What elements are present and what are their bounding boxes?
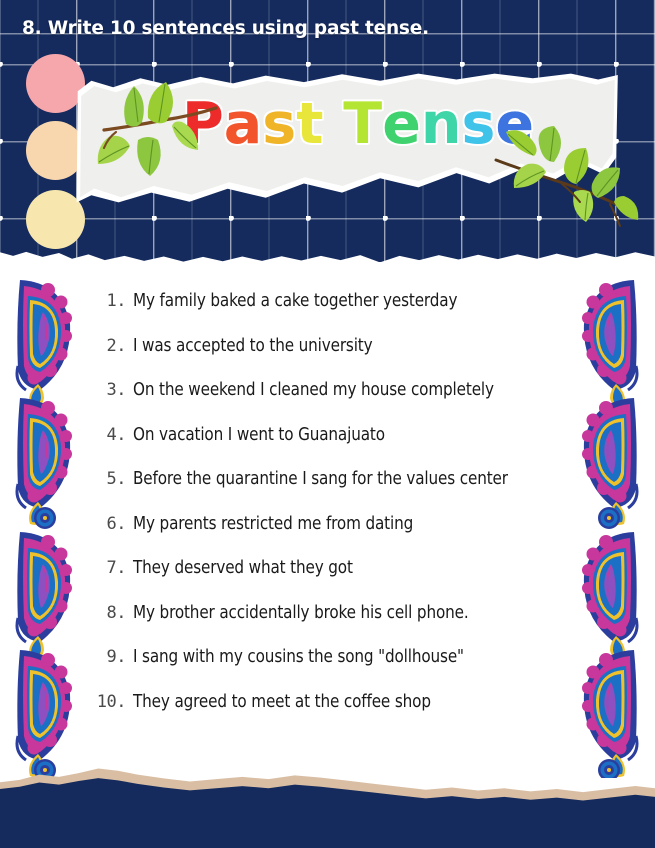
list-item: 3.On the weekend I cleaned my house comp… (88, 379, 558, 400)
list-item-text: My family baked a cake together yesterda… (133, 290, 457, 311)
instruction-heading: 8. Write 10 sentences using past tense. (22, 18, 429, 39)
list-item: 8.My brother accidentally broke his cell… (88, 602, 558, 623)
banner-letter-9: e (495, 96, 534, 153)
cream-circle (26, 190, 85, 249)
list-item: 4.On vacation I went to Guanajuato (88, 424, 558, 445)
list-item-number: 1. (88, 291, 126, 311)
banner-letter-0: P (182, 96, 224, 153)
pink-circle (26, 54, 85, 113)
list-item-text: On the weekend I cleaned my house comple… (133, 379, 494, 400)
list-item: 7.They deserved what they got (88, 557, 558, 578)
list-item-text: On vacation I went to Guanajuato (133, 424, 385, 445)
list-item: 10.They agreed to meet at the coffee sho… (88, 691, 558, 712)
list-item-number: 5. (88, 469, 126, 489)
title-banner: Past Tense (78, 76, 618, 201)
banner-letter-6: e (382, 96, 421, 153)
banner-letter-8: s (461, 96, 495, 153)
list-item-number: 9. (88, 647, 126, 667)
list-item: 5.Before the quarantine I sang for the v… (88, 468, 558, 489)
list-item-number: 6. (88, 514, 126, 534)
worksheet-page: 8. Write 10 sentences using past tense. … (0, 0, 655, 848)
banner-letter-3: t (296, 96, 323, 153)
banner-title-text: Past Tense (182, 96, 534, 153)
banner-letter-7: n (421, 96, 462, 153)
banner-letter-1: a (224, 96, 262, 153)
list-item-number: 10. (88, 692, 126, 712)
list-item: 1.My family baked a cake together yester… (88, 290, 558, 311)
list-item: 2.I was accepted to the university (88, 335, 558, 356)
list-item: 6.My parents restricted me from dating (88, 513, 558, 534)
list-item-number: 7. (88, 558, 126, 578)
banner-letter-2: s (262, 96, 296, 153)
list-item-text: I was accepted to the university (133, 335, 373, 356)
banner-letter-4 (323, 96, 343, 153)
list-item-number: 3. (88, 380, 126, 400)
list-item-text: My brother accidentally broke his cell p… (133, 602, 469, 623)
list-item-text: Before the quarantine I sang for the val… (133, 468, 508, 489)
list-item-number: 8. (88, 603, 126, 623)
list-item-text: They deserved what they got (133, 557, 353, 578)
list-item-text: I sang with my cousins the song "dollhou… (133, 646, 464, 667)
list-item-text: My parents restricted me from dating (133, 513, 413, 534)
list-item-text: They agreed to meet at the coffee shop (133, 691, 431, 712)
list-item-number: 4. (88, 425, 126, 445)
banner-letter-5: T (343, 96, 382, 153)
peach-circle (26, 121, 85, 180)
paisley-border-right (578, 278, 640, 778)
paisley-border-left (14, 278, 76, 778)
list-item-number: 2. (88, 336, 126, 356)
list-item: 9.I sang with my cousins the song "dollh… (88, 646, 558, 667)
sentence-list: 1.My family baked a cake together yester… (88, 290, 558, 735)
